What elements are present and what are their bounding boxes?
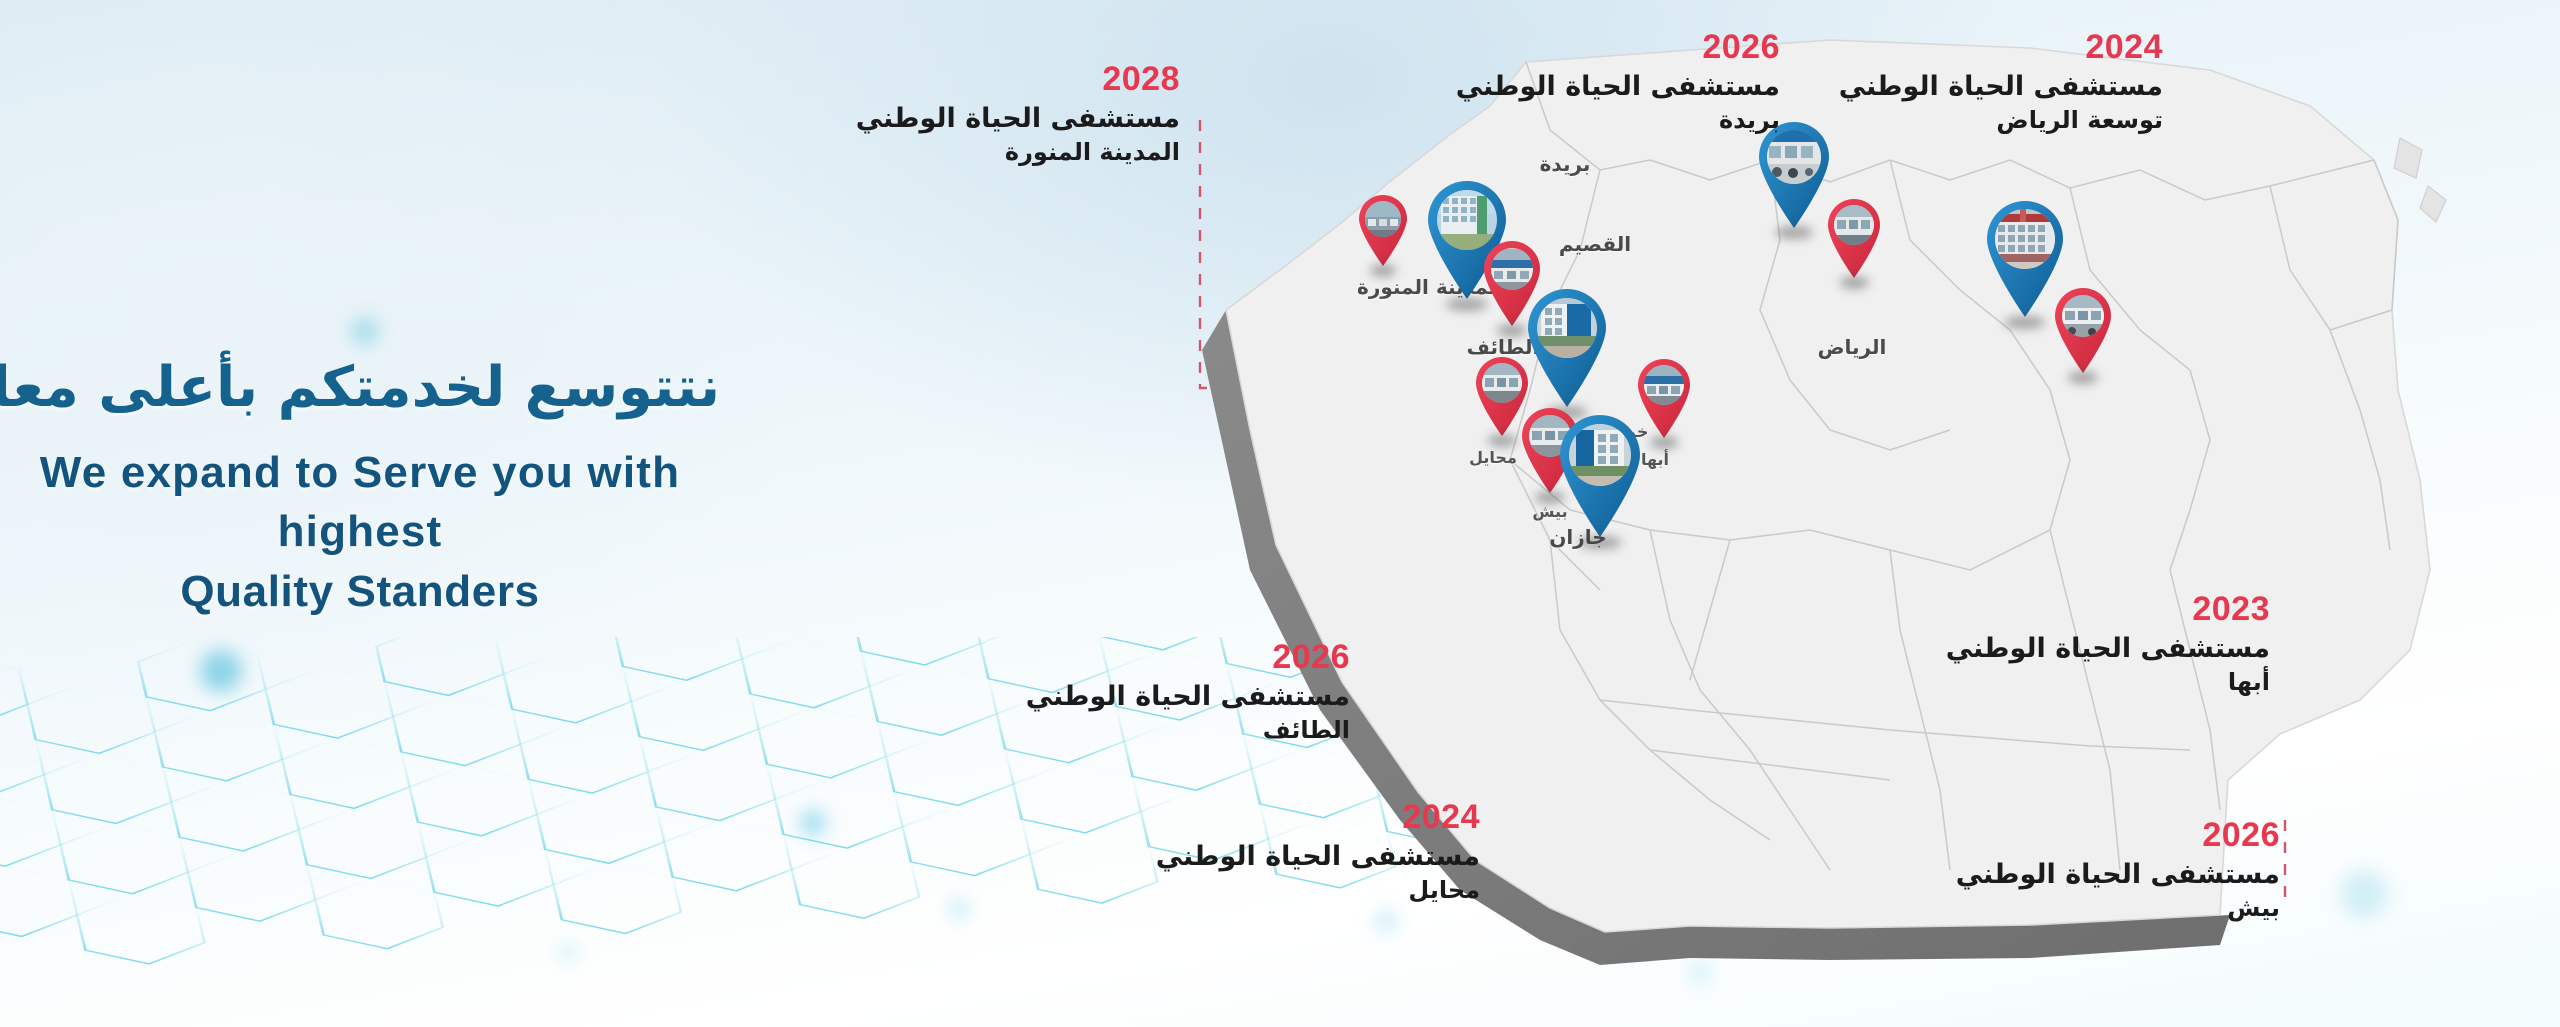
pin-khamis-blue[interactable] (1521, 284, 1613, 410)
callout-city: توسعة الرياض (1855, 106, 2163, 135)
headline-english-line1: We expand to Serve you with highest (40, 448, 680, 556)
map-pin-blue-icon (1552, 410, 1648, 540)
callout-city: بيش (1980, 894, 2280, 923)
pin-shadow (1650, 436, 1679, 449)
callout-year: 2024 (1855, 30, 2163, 64)
map-gulf-islands (2394, 138, 2446, 222)
headline-block: نتتوسع لخدمتكم بأعلى معايير الجودة We ex… (0, 355, 720, 621)
callout-year: 2026 (1980, 818, 2280, 852)
headline-arabic: نتتوسع لخدمتكم بأعلى معايير الجودة (0, 355, 720, 421)
bokeh-dot (352, 318, 378, 344)
callout-city: بريدة (1480, 106, 1780, 135)
callout-year: 2024 (1180, 800, 1480, 834)
expansion-map-banner: نتتوسع لخدمتكم بأعلى معايير الجودة We ex… (0, 0, 2560, 1027)
callout-buraydah[interactable]: 2026 مستشفى الحياة الوطني بريدة (1480, 30, 1780, 135)
hospital-exterior-photo (1365, 201, 1401, 237)
callout-city: الطائف (1050, 716, 1350, 745)
map-label-qassim: القصيم (1559, 232, 1631, 256)
pin-shadow (1370, 264, 1396, 277)
pin-madinah-red[interactable] (1355, 192, 1411, 268)
pin-shadow (1488, 434, 1517, 447)
map-label-buraydah: بريدة (1540, 152, 1591, 176)
headline-english-line2: Quality Standers (0, 562, 720, 621)
map-pin-blue-icon (1521, 284, 1613, 410)
map-label-riyadh: الرياض (1818, 335, 1887, 359)
callout-hospital-name: مستشفى الحياة الوطني (1962, 632, 2270, 666)
callout-hospital-name: مستشفى الحياة الوطني (1980, 858, 2280, 892)
callout-abha[interactable]: 2023 مستشفى الحياة الوطني أبها (1962, 592, 2270, 697)
callout-hospital-name: مستشفى الحياة الوطني (1480, 70, 1780, 104)
callout-city: أبها (1962, 668, 2270, 697)
callout-hospital-name: مستشفى الحياة الوطني (1855, 70, 2163, 104)
callout-madinah[interactable]: 2028 مستشفى الحياة الوطني المدينة المنور… (880, 62, 1180, 167)
callout-taif[interactable]: 2026 مستشفى الحياة الوطني الطائف (1050, 640, 1350, 745)
pin-shadow (1578, 536, 1622, 549)
callout-city: محايل (1180, 876, 1480, 905)
pin-shadow (1775, 226, 1813, 239)
bokeh-dot (800, 810, 826, 836)
callout-hospital-name: مستشفى الحياة الوطني (1050, 680, 1350, 714)
callout-year: 2026 (1480, 30, 1780, 64)
bokeh-dot (560, 945, 576, 961)
callout-bish[interactable]: 2026 مستشفى الحياة الوطني بيش (1980, 818, 2280, 923)
headline-english: We expand to Serve you with highest Qual… (0, 443, 720, 621)
callout-hospital-name: مستشفى الحياة الوطني (1180, 840, 1480, 874)
bokeh-dot (950, 900, 968, 918)
pin-jazan-blue[interactable] (1552, 410, 1648, 540)
pin-shadow (2004, 316, 2045, 329)
bokeh-dot (200, 650, 242, 692)
callout-riyadh[interactable]: 2024 مستشفى الحياة الوطني توسعة الرياض (1855, 30, 2163, 135)
map-label-muhayil: محايل (1469, 448, 1517, 467)
pin-shadow (1840, 276, 1869, 289)
callout-muhayil[interactable]: 2024 مستشفى الحياة الوطني محايل (1180, 800, 1480, 905)
callout-city: المدينة المنورة (880, 138, 1180, 167)
map-pin-red-icon (1355, 192, 1411, 268)
callout-hospital-name: مستشفى الحياة الوطني (880, 102, 1180, 136)
pin-riyadh-red[interactable] (2050, 285, 2116, 375)
map-pin-red-icon (1823, 196, 1885, 280)
pin-buraydah-red[interactable] (1823, 196, 1885, 280)
callout-year: 2023 (1962, 592, 2270, 626)
callout-year: 2028 (880, 62, 1180, 96)
map-pin-red-icon (2050, 285, 2116, 375)
callout-year: 2026 (1050, 640, 1350, 674)
